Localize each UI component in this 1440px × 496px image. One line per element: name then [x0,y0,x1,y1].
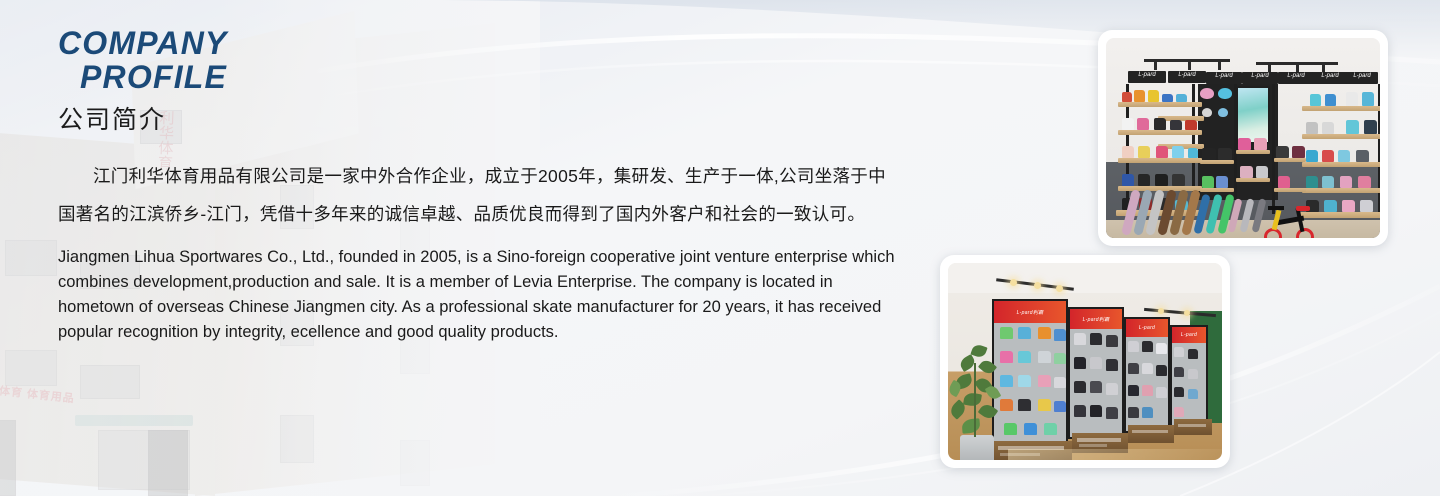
sign-l-pard: L-pard [1168,71,1206,83]
page-title-line1: COMPANY [58,25,228,61]
sign-l-pard: L-pard [1242,72,1278,84]
profile-paragraph-cn: 江门利华体育用品有限公司是一家中外合作企业，成立于2005年，集研发、生产于一体… [58,157,896,233]
profile-paragraph-en: Jiangmen Lihua Sportwares Co., Ltd., fou… [58,245,896,345]
page-title: COMPANY PROFILE [58,26,908,94]
banner-l-pard: L-pard利霸 [994,301,1066,323]
banner-l-pard: L-pard利霸 [1070,309,1122,329]
banner-l-pard: L-pard [1172,327,1206,343]
banner-l-pard: L-pard [1126,319,1168,337]
sign-l-pard: L-pard [1128,71,1166,83]
photo-showroom[interactable]: L-pard利霸 L-pard利霸 L-pard L-pard [940,255,1230,468]
company-profile-banner: 利华体育 体育用品 利华体育 [0,0,1440,496]
sign-l-pard: L-pard [1206,72,1242,84]
sign-l-pard: L-pard [1278,72,1314,84]
sign-l-pard: L-pard [1346,72,1378,84]
sign-l-pard: L-pard [1312,72,1348,84]
profile-text-column: COMPANY PROFILE 公司简介 江门利华体育用品有限公司是一家中外合作… [58,26,908,345]
page-title-line2: PROFILE [58,60,908,94]
photo-retail-wall[interactable]: L-pard L-pard L-pard L-pard L-pard L-par… [1098,30,1388,246]
page-subtitle-cn: 公司简介 [58,105,908,135]
